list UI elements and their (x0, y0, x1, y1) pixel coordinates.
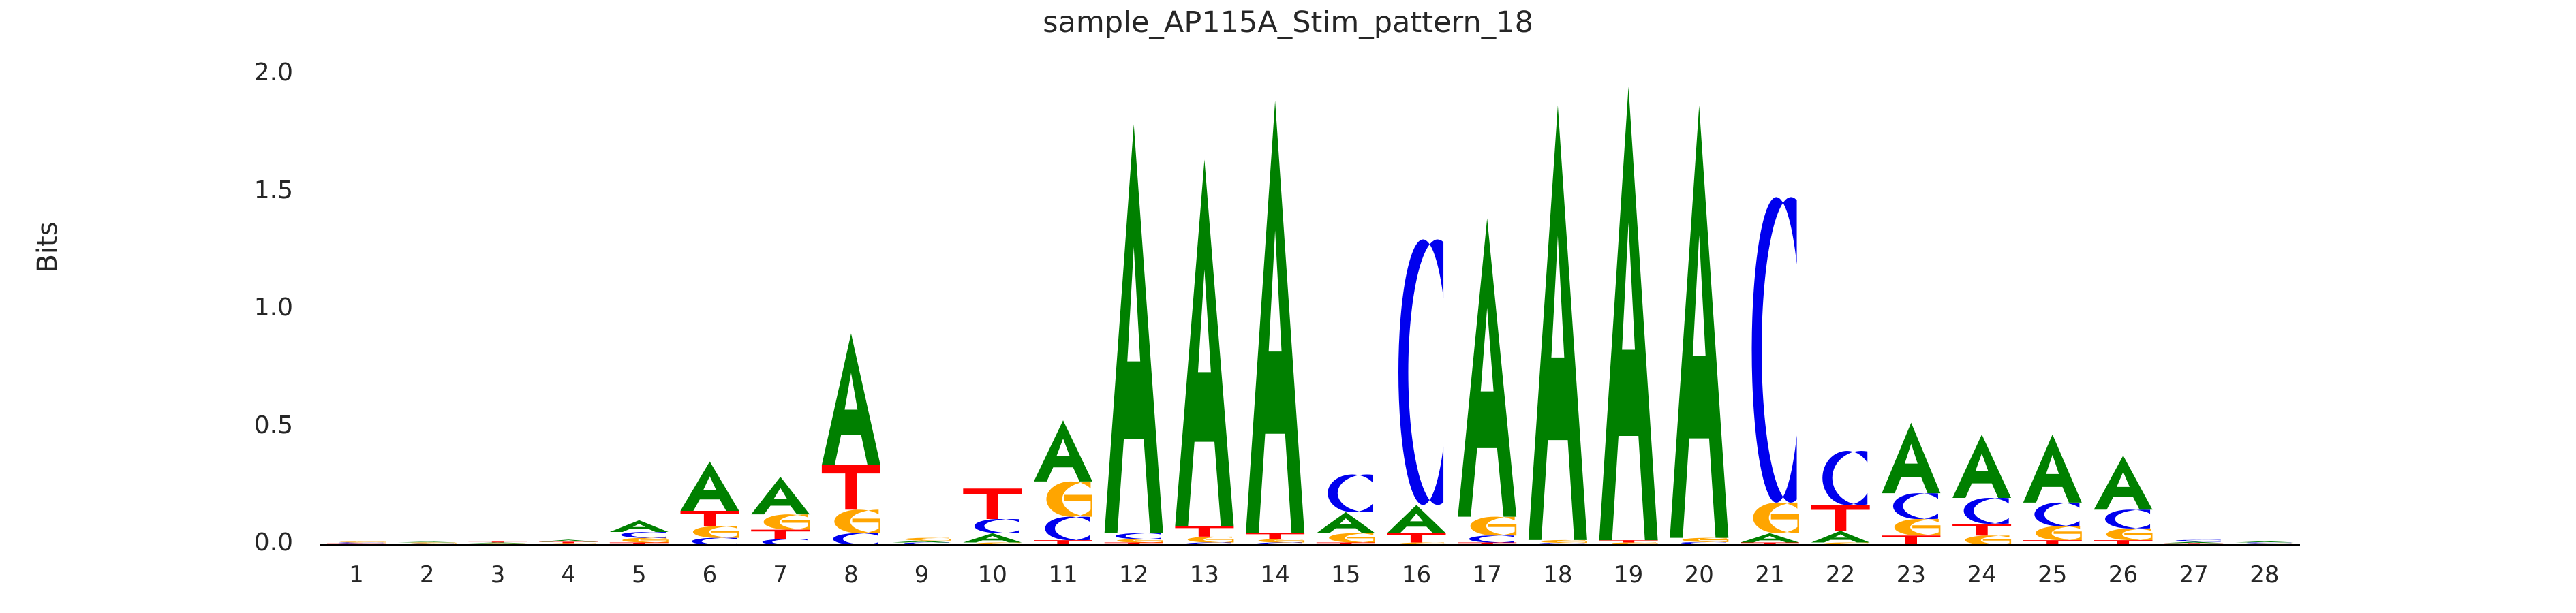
logo-letter-a (1246, 101, 1304, 533)
logo-letter-a (1811, 531, 1870, 542)
logo-letter-c (692, 538, 737, 545)
logo-letter-c (1328, 475, 1373, 512)
x-tick-label: 1 (326, 561, 387, 588)
logo-letter-a (681, 462, 739, 511)
logo-letter-a (1175, 159, 1233, 526)
logo-letter-g (2106, 529, 2153, 540)
logo-letter-g (1541, 540, 1587, 543)
logo-stack (1458, 218, 1516, 545)
logo-letter-a (1317, 512, 1375, 533)
logo-stack (963, 488, 1022, 545)
logo-letter-a (398, 541, 457, 542)
logo-letter-a (1670, 106, 1728, 538)
logo-letter-c (409, 544, 454, 544)
logo-letter-c (2176, 540, 2221, 542)
logo-letter-g (1471, 517, 1517, 536)
x-tick-label: 28 (2234, 561, 2295, 588)
logo-letter-t (1599, 540, 1658, 542)
logo-stack (1105, 124, 1163, 545)
logo-letter-t (468, 541, 527, 542)
logo-letter-c (2246, 542, 2291, 543)
logo-letter-c (1681, 542, 1726, 544)
logo-letter-g (834, 509, 880, 533)
logo-stack (893, 538, 951, 545)
logo-stack (822, 334, 880, 546)
logo-letter-g (1259, 539, 1305, 542)
logo-letter-a (1034, 420, 1092, 482)
logo-letter-t (1882, 535, 1940, 545)
logo-letter-a (2023, 435, 2082, 503)
logo-letter-c (1964, 498, 2009, 524)
logo-letter-c (1539, 543, 1584, 544)
x-tick-label: 8 (821, 561, 882, 588)
logo-letter-a (1882, 423, 1940, 494)
logo-letter-a (2164, 541, 2223, 543)
logo-letter-t (1811, 505, 1870, 531)
x-tick-label: 19 (1598, 561, 1659, 588)
logo-letter-t (327, 544, 386, 544)
x-tick-label: 7 (750, 561, 811, 588)
logo-letter-g (693, 526, 739, 537)
logo-stack (1670, 106, 1728, 545)
logo-stack (681, 462, 739, 545)
logo-letter-a (1952, 435, 2011, 498)
x-tick-label: 9 (891, 561, 953, 588)
logo-letter-c (621, 532, 666, 538)
logo-letter-g (1683, 538, 1729, 542)
sequence-logo-figure: sample_AP115A_Stim_pattern_18 Bits 0.00.… (0, 0, 2576, 613)
logo-letter-c (1469, 535, 1514, 542)
logo-letter-c (339, 542, 384, 543)
logo-letter-g (1895, 519, 1941, 535)
logo-letter-g (905, 538, 951, 541)
x-tick-label: 16 (1386, 561, 1447, 588)
logo-letter-a (1458, 218, 1516, 516)
x-tick-label: 4 (538, 561, 599, 588)
logo-stack (1246, 101, 1304, 545)
logo-plot-area (0, 0, 2576, 613)
logo-letter-a (468, 542, 527, 543)
logo-letter-t (1952, 524, 2011, 535)
x-tick-label: 10 (962, 561, 1023, 588)
logo-letter-a (751, 477, 810, 514)
logo-letter-t (539, 541, 598, 543)
x-tick-label: 12 (1103, 561, 1165, 588)
logo-stack (1599, 87, 1658, 545)
logo-letter-a (539, 539, 598, 541)
logo-letter-a (2235, 541, 2294, 543)
logo-stack (1034, 420, 1092, 545)
logo-stack (1741, 197, 1799, 545)
logo-letter-c (2105, 509, 2150, 529)
logo-letter-t (1387, 533, 1446, 543)
logo-letter-a (822, 334, 880, 465)
logo-letter-c (1116, 533, 1161, 539)
logo-letter-a (893, 541, 951, 543)
logo-letter-t (822, 465, 880, 510)
x-tick-label: 3 (467, 561, 528, 588)
x-tick-label: 13 (1174, 561, 1235, 588)
x-tick-label: 21 (1739, 561, 1800, 588)
logo-letter-c (1398, 239, 1443, 505)
logo-letter-g (1612, 543, 1658, 544)
logo-stack (1317, 475, 1375, 546)
logo-letter-c (975, 519, 1019, 533)
logo-letter-g (2036, 526, 2082, 540)
logo-letter-t (751, 530, 810, 539)
logo-stack (610, 520, 669, 545)
logo-letter-a (610, 520, 669, 532)
logo-letter-g (410, 542, 457, 543)
logo-stack (1882, 423, 1940, 545)
logo-letter-a (1599, 87, 1658, 540)
logo-stack (1952, 435, 2011, 545)
logo-letter-a (963, 533, 1022, 543)
logo-letter-g (1965, 535, 2012, 545)
logo-stack (1529, 106, 1587, 545)
logo-letter-g (339, 541, 386, 542)
logo-letter-g (1188, 537, 1234, 543)
logo-letter-g (481, 544, 527, 544)
x-tick-label: 14 (1244, 561, 1306, 588)
logo-letter-g (1329, 533, 1375, 543)
x-tick-label: 22 (1810, 561, 1871, 588)
logo-letter-c (1752, 197, 1797, 503)
logo-letter-t (681, 511, 739, 526)
logo-stack (1811, 451, 1870, 545)
logo-letter-c (2034, 503, 2079, 526)
logo-letter-g (2248, 544, 2294, 544)
logo-stack (2023, 435, 2082, 545)
x-tick-label: 17 (1456, 561, 1518, 588)
logo-letter-g (764, 514, 810, 529)
logo-letter-c (833, 533, 878, 545)
x-tick-label: 6 (679, 561, 741, 588)
logo-letter-t (963, 488, 1022, 519)
logo-letter-c (1893, 493, 1938, 519)
x-tick-label: 20 (1668, 561, 1730, 588)
logo-stack (1387, 239, 1446, 545)
logo-letter-c (1045, 517, 1090, 541)
logo-letter-a (1105, 124, 1163, 533)
logo-letter-g (622, 538, 669, 543)
logo-stack (2094, 456, 2153, 545)
logo-stack (751, 477, 810, 545)
x-tick-label: 25 (2022, 561, 2083, 588)
logo-letter-g (552, 543, 598, 544)
logo-letter-c (904, 543, 949, 544)
x-tick-label: 5 (609, 561, 670, 588)
logo-letter-a (2094, 456, 2153, 509)
x-tick-label: 2 (397, 561, 458, 588)
x-tick-label: 11 (1032, 561, 1094, 588)
logo-letter-t (1175, 526, 1233, 537)
logo-letter-g (1117, 539, 1163, 542)
logo-stack (1175, 159, 1233, 545)
logo-letter-c (763, 539, 808, 545)
x-tick-label: 18 (1527, 561, 1589, 588)
logo-letter-a (1387, 505, 1446, 533)
logo-letter-t (2164, 543, 2223, 544)
logo-letter-c (1822, 451, 1867, 505)
x-tick-label: 27 (2163, 561, 2224, 588)
x-tick-label: 24 (1951, 561, 2012, 588)
x-tick-label: 23 (1880, 561, 1942, 588)
logo-letter-a (1741, 533, 1799, 543)
logo-letter-g (1046, 482, 1092, 517)
logo-letter-g (1753, 503, 1799, 533)
x-tick-label: 15 (1315, 561, 1377, 588)
logo-letter-t (1246, 533, 1304, 539)
logo-letter-a (1529, 106, 1587, 540)
x-tick-label: 26 (2093, 561, 2154, 588)
